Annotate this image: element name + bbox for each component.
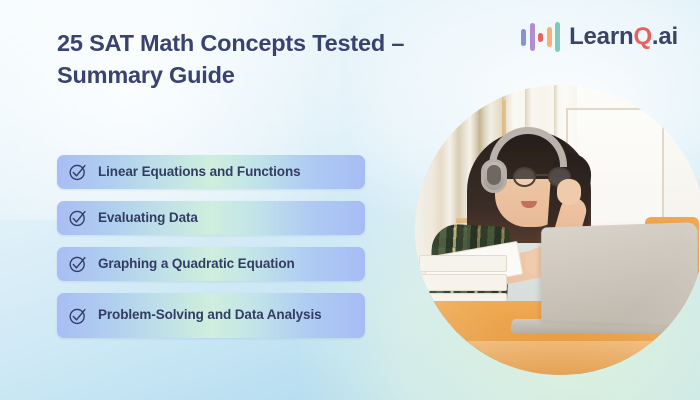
photo-person-raised-hand	[557, 179, 581, 205]
logo-bar-2	[530, 23, 535, 51]
list-item-label: Problem-Solving and Data Analysis	[98, 307, 322, 323]
concepts-checklist: Linear Equations and Functions Evaluatin…	[57, 155, 365, 338]
logo-wordmark: LearnQ.ai	[569, 25, 678, 49]
check-circle-icon	[68, 254, 88, 274]
logo-word-learn: Learn	[569, 23, 633, 50]
check-circle-icon	[68, 208, 88, 228]
logo-bar-1	[521, 29, 526, 46]
list-item[interactable]: Graphing a Quadratic Equation	[57, 247, 365, 281]
student-with-headphones-at-laptop-photo	[415, 85, 700, 375]
page-title: 25 SAT Math Concepts Tested – Summary Gu…	[57, 28, 457, 92]
list-item-label: Linear Equations and Functions	[98, 164, 301, 180]
logo-waveform-icon	[521, 22, 560, 52]
page-title-line-2: Summary Guide	[57, 62, 235, 88]
check-circle-icon	[68, 306, 88, 326]
logo-word-ai: .ai	[652, 23, 678, 50]
photo-glasses-lens-left	[513, 167, 536, 187]
photo-book	[419, 255, 507, 272]
photo-book	[419, 274, 507, 291]
list-item[interactable]: Problem-Solving and Data Analysis	[57, 293, 365, 338]
logo-letter-q: Q	[633, 23, 651, 50]
list-item[interactable]: Evaluating Data	[57, 201, 365, 235]
list-item-label: Graphing a Quadratic Equation	[98, 256, 295, 272]
logo-bar-4	[547, 27, 552, 47]
list-item[interactable]: Linear Equations and Functions	[57, 155, 365, 189]
logo-bar-5	[555, 22, 560, 52]
check-circle-icon	[68, 162, 88, 182]
photo-glasses-bridge	[536, 174, 548, 176]
logo-bar-3	[538, 33, 543, 42]
page-title-line-1: 25 SAT Math Concepts Tested –	[57, 30, 404, 56]
list-item-label: Evaluating Data	[98, 210, 198, 226]
photo-laptop-screen	[541, 222, 697, 326]
poster-canvas: LearnQ.ai 25 SAT Math Concepts Tested – …	[0, 0, 700, 400]
photo-desk-reflection	[415, 341, 700, 375]
brand-logo[interactable]: LearnQ.ai	[521, 22, 678, 52]
photo-headphones-earcup-inner	[487, 165, 501, 185]
